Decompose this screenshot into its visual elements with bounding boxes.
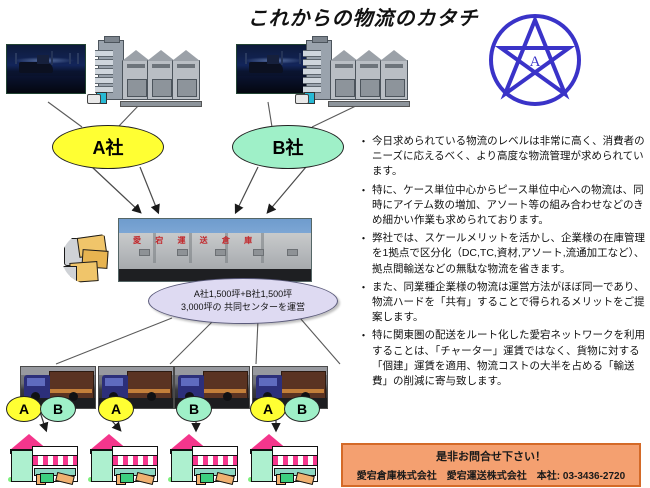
bullet-text: 特に関東圏の配送をルート化した愛宕ネットワークを利用することは、「チャーター」運… bbox=[372, 328, 648, 389]
warehouse-sign-text: 愛 宕 運 送 倉 庫 bbox=[133, 235, 263, 244]
footer-headline: 是非お問合せ下さい！ bbox=[436, 448, 546, 464]
benefits-bullet-list: ・ 今日求められている物流のレベルは非常に高く、消費者のニーズに応えるべく、より… bbox=[350, 134, 648, 392]
bullet-text: 弊社では、スケールメリットを活かし、企業様の在庫管理を1拠点で区分化（DC,TC… bbox=[372, 231, 648, 277]
truck-3-badge-b: B bbox=[176, 396, 212, 422]
badge-label: A bbox=[111, 401, 121, 417]
bullet-marker-icon: ・ bbox=[358, 281, 369, 296]
company-oval-a: A社 bbox=[52, 125, 164, 169]
shop-4 bbox=[246, 432, 322, 484]
bullet-text: また、同業種企業様の物流は運営方法がほぼ同一であり、物流ハードを「共有」すること… bbox=[372, 280, 648, 326]
office-factory-illustration-right bbox=[300, 38, 408, 104]
contact-footer-box: 是非お問合せ下さい！ 愛宕倉庫株式会社 愛宕運送株式会社 本社: 03-3436… bbox=[341, 443, 641, 487]
company-oval-a-label: A社 bbox=[93, 134, 124, 160]
bullet-marker-icon: ・ bbox=[358, 232, 369, 247]
truck-1-badge-b: B bbox=[40, 396, 76, 422]
bullet-text: 今日求められている物流のレベルは非常に高く、消費者のニーズに応えるべく、より高度… bbox=[372, 134, 648, 180]
pentagram-logo: A bbox=[483, 8, 587, 112]
port-ship-photo-left bbox=[6, 44, 86, 94]
badge-label: B bbox=[189, 401, 199, 417]
callout-line-1: A社1,500坪+B社1,500坪 bbox=[194, 288, 292, 301]
office-factory-illustration-left bbox=[92, 38, 200, 104]
company-oval-b-label: B社 bbox=[273, 134, 304, 160]
badge-label: B bbox=[297, 401, 307, 417]
warehouse-building-photo: 愛 宕 運 送 倉 庫 bbox=[118, 218, 312, 282]
shop-1 bbox=[6, 432, 82, 484]
bullet-item-3: ・ 弊社では、スケールメリットを活かし、企業様の在庫管理を1拠点で区分化（DC,… bbox=[350, 231, 648, 277]
bullet-item-5: ・ 特に関東圏の配送をルート化した愛宕ネットワークを利用することは、「チャーター… bbox=[350, 328, 648, 389]
bullet-marker-icon: ・ bbox=[358, 329, 369, 344]
bullet-marker-icon: ・ bbox=[358, 184, 369, 199]
footer-company-contact: 愛宕倉庫株式会社 愛宕運送株式会社 本社: 03-3436-2720 bbox=[357, 467, 625, 482]
page-title: これからの物流のカタチ bbox=[218, 4, 508, 34]
bullet-marker-icon: ・ bbox=[358, 135, 369, 150]
badge-label: A bbox=[19, 401, 29, 417]
worker-with-cartons-illustration bbox=[62, 232, 118, 284]
shop-3 bbox=[166, 432, 242, 484]
shared-center-callout: A社1,500坪+B社1,500坪 3,000坪の 共同センターを運営 bbox=[148, 278, 338, 324]
badge-label: A bbox=[263, 401, 273, 417]
truck-2-badge-a: A bbox=[98, 396, 134, 422]
truck-1-badge-a: A bbox=[6, 396, 42, 422]
bullet-item-2: ・ 特に、ケース単位中心からピース単位中心への物流は、同時にアイテム数の増加、ア… bbox=[350, 183, 648, 229]
truck-4-badge-b: B bbox=[284, 396, 320, 422]
bullet-item-4: ・ また、同業種企業様の物流は運営方法がほぼ同一であり、物流ハードを「共有」する… bbox=[350, 280, 648, 326]
truck-4-badge-a: A bbox=[250, 396, 286, 422]
logo-letter: A bbox=[530, 54, 541, 70]
shop-2 bbox=[86, 432, 162, 484]
slide-canvas: これからの物流のカタチ A bbox=[0, 0, 650, 488]
callout-line-2: 3,000坪の 共同センターを運営 bbox=[181, 301, 305, 314]
badge-label: B bbox=[53, 401, 63, 417]
bullet-item-1: ・ 今日求められている物流のレベルは非常に高く、消費者のニーズに応えるべく、より… bbox=[350, 134, 648, 180]
bullet-text: 特に、ケース単位中心からピース単位中心への物流は、同時にアイテム数の増加、アソー… bbox=[372, 183, 648, 229]
company-oval-b: B社 bbox=[232, 125, 344, 169]
